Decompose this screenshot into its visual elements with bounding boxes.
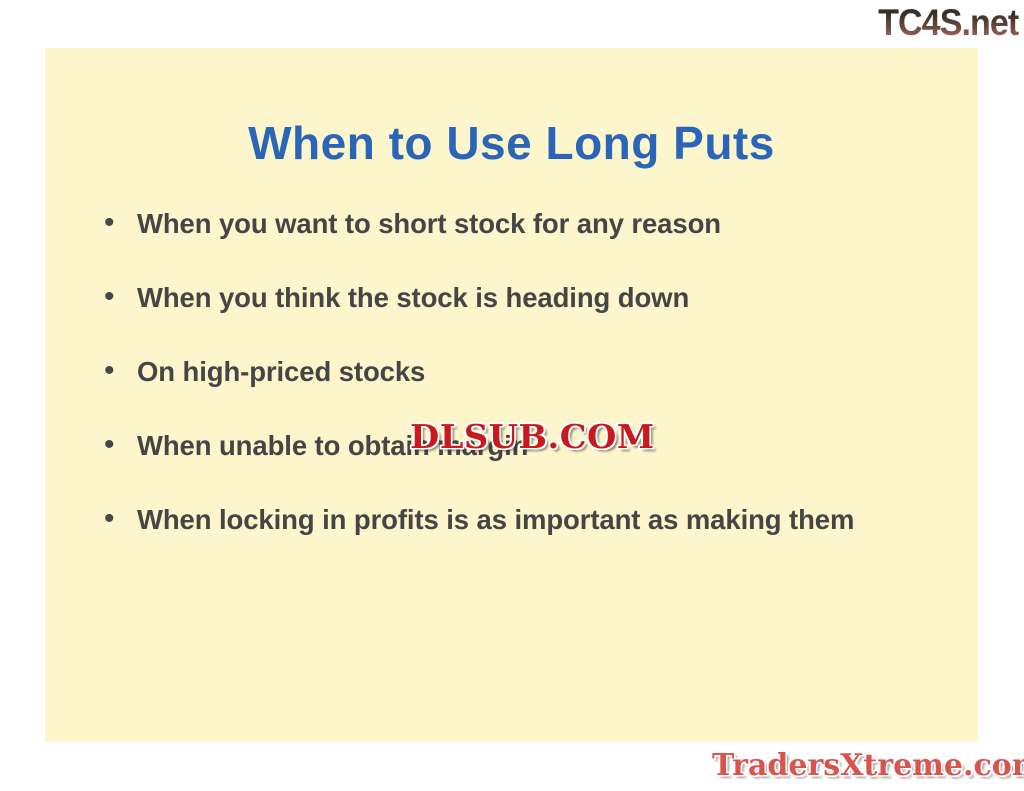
slide-root: TC4S.net When to Use Long Puts • When yo… [0,0,1024,791]
page-title: When to Use Long Puts [45,116,978,170]
slide-content-panel: When to Use Long Puts • When you want to… [45,48,978,742]
list-item-label: When you want to short stock for any rea… [137,205,897,242]
bullet-list: • When you want to short stock for any r… [100,205,960,538]
bullet-point-icon: • [100,501,137,537]
list-item: • When locking in profits is as importan… [100,501,960,538]
list-item-label: On high-priced stocks [137,353,897,390]
bullet-point-icon: • [100,353,137,389]
site-logo: TC4S.net [845,2,1022,44]
list-item-label: When locking in profits is as important … [137,501,897,538]
list-item-label: When you think the stock is heading down [137,279,897,316]
list-item: • When you want to short stock for any r… [100,205,960,242]
bullet-point-icon: • [100,205,137,241]
watermark: DLSUB.COM [410,419,655,455]
list-item: • When you think the stock is heading do… [100,279,960,316]
bullet-point-icon: • [100,279,137,315]
bullet-point-icon: • [100,427,137,463]
list-item: • On high-priced stocks [100,353,960,390]
brand-logo: TradersXtreme.com [712,748,1024,784]
